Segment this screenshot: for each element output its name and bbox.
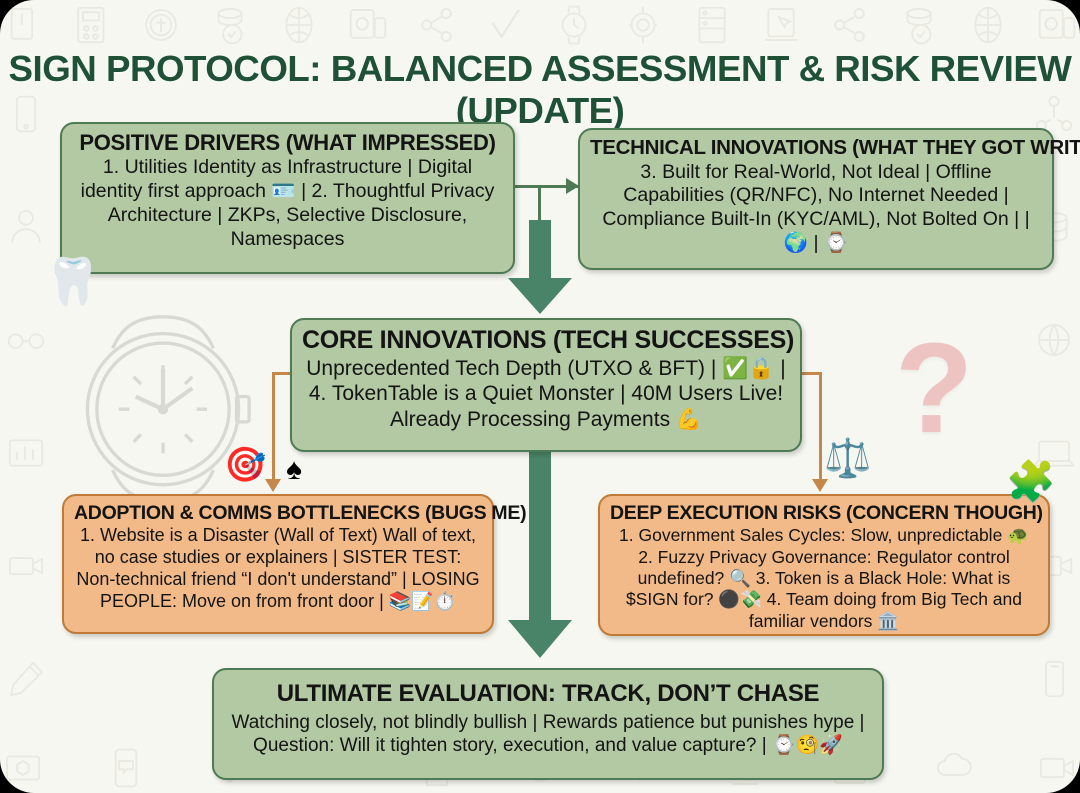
- cloud-icon: [931, 745, 977, 791]
- arrow-to-ultimate-head: [508, 620, 572, 658]
- share-nodes-icon: [827, 2, 873, 48]
- arrow-to-core-head: [508, 278, 572, 314]
- watch-icon: [551, 2, 597, 48]
- tablet-cursor-icon: [758, 2, 804, 48]
- infographic-canvas: ? SIGN PROTOCOL: BALANCED ASSESSMENT & R…: [0, 0, 1080, 793]
- checkmark-icon: [482, 2, 528, 48]
- spade-icon: ♠: [286, 455, 302, 485]
- phone-scan-icon: [1034, 2, 1080, 48]
- page-title: SIGN PROTOCOL: BALANCED ASSESSMENT & RIS…: [0, 48, 1080, 132]
- pencil-icon: [3, 656, 49, 702]
- card-core-innovations[interactable]: CORE INNOVATIONS (TECH SUCCESSES) Unprec…: [290, 318, 802, 452]
- box-3d-icon: [0, 745, 46, 791]
- card-core-innovations-body: Unprecedented Tech Depth (UTXO & BFT) | …: [302, 356, 790, 433]
- connector-positive-to-technical: [515, 185, 581, 188]
- tablet-icon: [0, 2, 46, 48]
- mobile-icon: [1031, 656, 1077, 702]
- watermark-band-top: [0, 2, 1080, 48]
- connector-core-to-adoption-arrowhead: [265, 479, 281, 492]
- card-adoption-bottlenecks-body: 1. Website is a Disaster (Wall of Text) …: [74, 525, 482, 613]
- coins-check-icon: [207, 2, 253, 48]
- share-nodes-icon: [414, 2, 460, 48]
- dart-target-icon: 🎯: [224, 448, 266, 482]
- question-mark-decoration: ?: [895, 325, 973, 453]
- card-adoption-bottlenecks-heading: ADOPTION & COMMS BOTTLENECKS (BUGS ME): [74, 502, 482, 524]
- globe-oval-icon: [965, 2, 1011, 48]
- glasses-icon: [3, 317, 49, 363]
- arrow-to-core-shaft: [529, 220, 551, 282]
- card-ultimate-evaluation-heading: ULTIMATE EVALUATION: TRACK, DON’T CHASE: [224, 680, 872, 708]
- card-ultimate-evaluation-body: Watching closely, not blindly bullish | …: [224, 711, 872, 757]
- chart-bars-icon: [3, 430, 49, 476]
- card-positive-drivers-body: 1. Utilities Identity as Infrastructure …: [72, 156, 503, 251]
- watch-gear-icon: [620, 2, 666, 48]
- connector-core-to-adoption-vertical: [272, 372, 275, 482]
- connector-core-to-risks-arrowhead: [812, 479, 828, 492]
- card-positive-drivers[interactable]: POSITIVE DRIVERS (WHAT IMPRESSED) 1. Uti…: [60, 122, 515, 274]
- phone-chat-icon: [103, 745, 149, 791]
- connector-core-to-risks-vertical: [819, 372, 822, 482]
- badge-icon: [138, 2, 184, 48]
- calculator-icon: [69, 2, 115, 48]
- person-icon: [3, 204, 49, 250]
- server-rack-icon: [689, 2, 735, 48]
- card-ultimate-evaluation[interactable]: ULTIMATE EVALUATION: TRACK, DON’T CHASE …: [212, 668, 884, 780]
- card-deep-execution-risks-body: 1. Government Sales Cycles: Slow, unpred…: [610, 525, 1038, 632]
- card-technical-innovations-body: 3. Built for Real-World, Not Ideal | Off…: [590, 161, 1042, 256]
- card-deep-execution-risks[interactable]: DEEP EXECUTION RISKS (CONCERN THOUGH) 1.…: [598, 494, 1050, 636]
- card-technical-innovations-heading: TECHNICAL INNOVATIONS (WHAT THEY GOT WRI…: [590, 136, 1042, 160]
- card-technical-innovations[interactable]: TECHNICAL INNOVATIONS (WHAT THEY GOT WRI…: [578, 128, 1054, 270]
- connector-drop-stem: [538, 186, 541, 222]
- coins-check-icon: [896, 2, 942, 48]
- camera-icon: [1034, 745, 1080, 791]
- arrow-to-ultimate-shaft: [529, 452, 551, 624]
- laptop-share-icon: [1031, 430, 1077, 476]
- card-deep-execution-risks-heading: DEEP EXECUTION RISKS (CONCERN THOUGH): [610, 502, 1038, 524]
- globe-oval-icon: [276, 2, 322, 48]
- film-icon: [3, 543, 49, 589]
- globe-icon: [1031, 317, 1077, 363]
- card-core-innovations-heading: CORE INNOVATIONS (TECH SUCCESSES): [302, 326, 790, 355]
- watermark-band-left: [0, 58, 52, 735]
- watch-watermark-icon: [58, 300, 268, 510]
- card-positive-drivers-heading: POSITIVE DRIVERS (WHAT IMPRESSED): [72, 130, 503, 155]
- card-adoption-bottlenecks[interactable]: ADOPTION & COMMS BOTTLENECKS (BUGS ME) 1…: [62, 494, 494, 634]
- phone-scan-icon: [345, 2, 391, 48]
- scales-icon: ⚖️: [824, 440, 871, 478]
